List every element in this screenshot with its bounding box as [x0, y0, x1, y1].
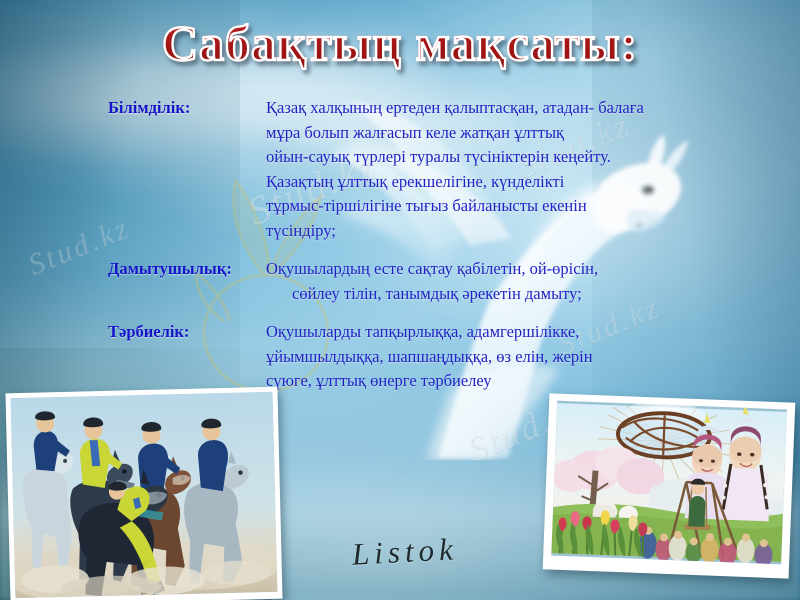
goal-text-line: сөйлеу тілін, танымдық әрекетін дамыту;	[266, 282, 718, 307]
goal-text: Оқушыларды тапқырлыққа, адамгершілікке, …	[266, 320, 718, 394]
goal-text-line: тұрмыс-тіршілігіне тығыз байланысты екен…	[266, 194, 718, 219]
goal-label: Білімділік:	[108, 96, 266, 121]
goal-text-line: сүюге, ұлттық өнерге тәрбиелеу	[266, 369, 718, 394]
goal-text-line: Қазақтың ұлттық ерекшелігіне, күнделікті	[266, 170, 718, 195]
goal-row-tarbielik: Тәрбиелік: Оқушыларды тапқырлыққа, адамг…	[108, 320, 718, 394]
goal-text-line: Қазақ халқының ертеден қалыптасқан, атад…	[266, 96, 718, 121]
goal-text-line: ұйымшылдыққа, шапшаңдыққа, өз елін, жері…	[266, 345, 718, 370]
goal-text-line: Оқушыларды тапқырлыққа, адамгершілікке,	[266, 320, 718, 345]
kokpar-horse-game-photo	[5, 387, 282, 600]
goals-list: Білімділік: Қазақ халқының ертеден қалып…	[108, 96, 718, 408]
photo-image	[551, 401, 787, 565]
goal-text-line: мұра болып жалғасып келе жатқан ұлттық	[266, 121, 718, 146]
goal-label: Тәрбиелік:	[108, 320, 266, 345]
goal-row-bilimdilik: Білімділік: Қазақ халқының ертеден қалып…	[108, 96, 718, 243]
photo-image	[11, 392, 278, 598]
goal-text-line: Оқушылардың есте сақтау қабілетін, ой-өр…	[266, 257, 718, 282]
goal-text-line: ойын-сауық түрлері туралы түсініктерін к…	[266, 145, 718, 170]
goal-text-line: түсіндіру;	[266, 219, 718, 244]
goal-text: Оқушылардың есте сақтау қабілетін, ой-өр…	[266, 257, 718, 306]
presentation-slide: Stud.kz Stud.kz Stud.kz Stud.kz Stud.kz …	[0, 0, 800, 600]
nauryz-celebration-photo	[543, 393, 796, 578]
goal-row-damytushylyq: Дамытушылық: Оқушылардың есте сақтау қаб…	[108, 257, 718, 306]
goal-text: Қазақ халқының ертеден қалыптасқан, атад…	[266, 96, 718, 243]
goal-label: Дамытушылық:	[108, 257, 266, 282]
slide-title: Сабақтың мақсаты:	[0, 14, 800, 72]
signature: Listok	[351, 531, 459, 572]
